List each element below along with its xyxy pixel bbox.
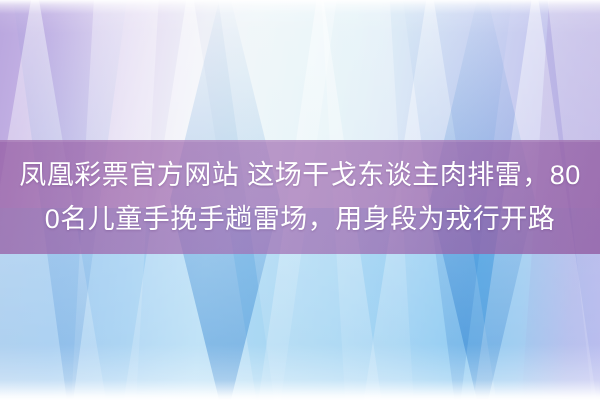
- caption-band: 凤凰彩票官方网站 这场干戈东谈主肉排雷，80 0名儿童手挽手趟雷场，用身段为戎行…: [0, 140, 600, 254]
- caption-line-1: 凤凰彩票官方网站 这场干戈东谈主肉排雷，80: [6, 153, 594, 197]
- decorative-banner: 凤凰彩票官方网站 这场干戈东谈主肉排雷，80 0名儿童手挽手趟雷场，用身段为戎行…: [0, 0, 600, 400]
- caption-band-top-edge: [0, 140, 600, 142]
- caption-line-2: 0名儿童手挽手趟雷场，用身段为戎行开路: [6, 197, 594, 241]
